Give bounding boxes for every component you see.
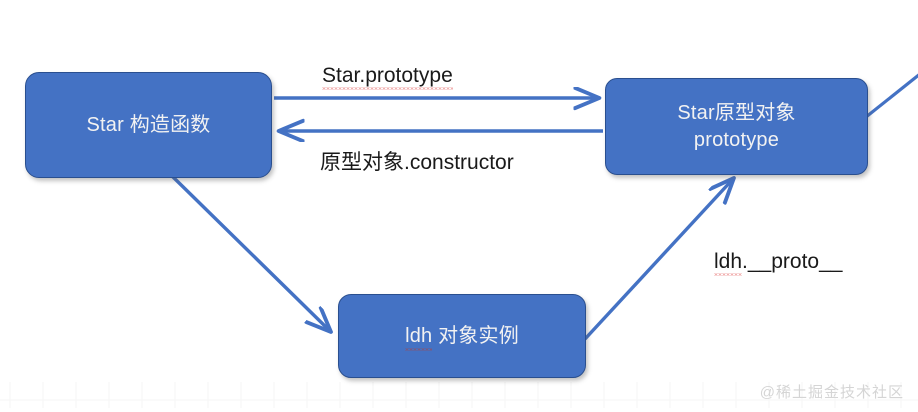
node-star-constructor[interactable]: Star 构造函数	[25, 72, 272, 178]
watermark: @稀土掘金技术社区	[760, 381, 904, 402]
arrow-star-to-ldh	[172, 176, 330, 331]
node-ldh-instance[interactable]: ldh 对象实例	[338, 294, 586, 378]
node-star-prototype-label-line1: Star原型对象	[677, 100, 795, 126]
node-ldh-label-rest: 对象实例	[432, 325, 519, 347]
node-star-prototype-label-line2: prototype	[694, 127, 779, 153]
node-ldh-misspelled-word: ldh	[405, 323, 432, 349]
edge-label-star-prototype: Star.prototype	[322, 64, 453, 88]
edge-label-prototype-constructor: 原型对象.constructor	[320, 146, 514, 176]
node-star-prototype[interactable]: Star原型对象 prototype	[605, 78, 868, 175]
edge-label-prototype-constructor-text: 原型对象.constructor	[320, 151, 514, 174]
edge-label-ldh-proto: ldh.__proto__	[714, 250, 842, 274]
node-ldh-instance-label: ldh 对象实例	[405, 323, 519, 349]
edge-label-ldh-misspelled-word: ldh	[714, 250, 742, 274]
edge-label-star-prototype-text: Star.prototype	[322, 64, 453, 88]
edge-label-ldh-proto-rest: .__proto__	[742, 250, 842, 273]
diagram-canvas: Star 构造函数 Star原型对象 prototype ldh 对象实例 St…	[0, 0, 918, 412]
line-prototype-to-offscreen	[866, 74, 918, 117]
node-star-constructor-label: Star 构造函数	[86, 112, 210, 138]
arrow-ldh-to-prototype	[585, 179, 733, 339]
